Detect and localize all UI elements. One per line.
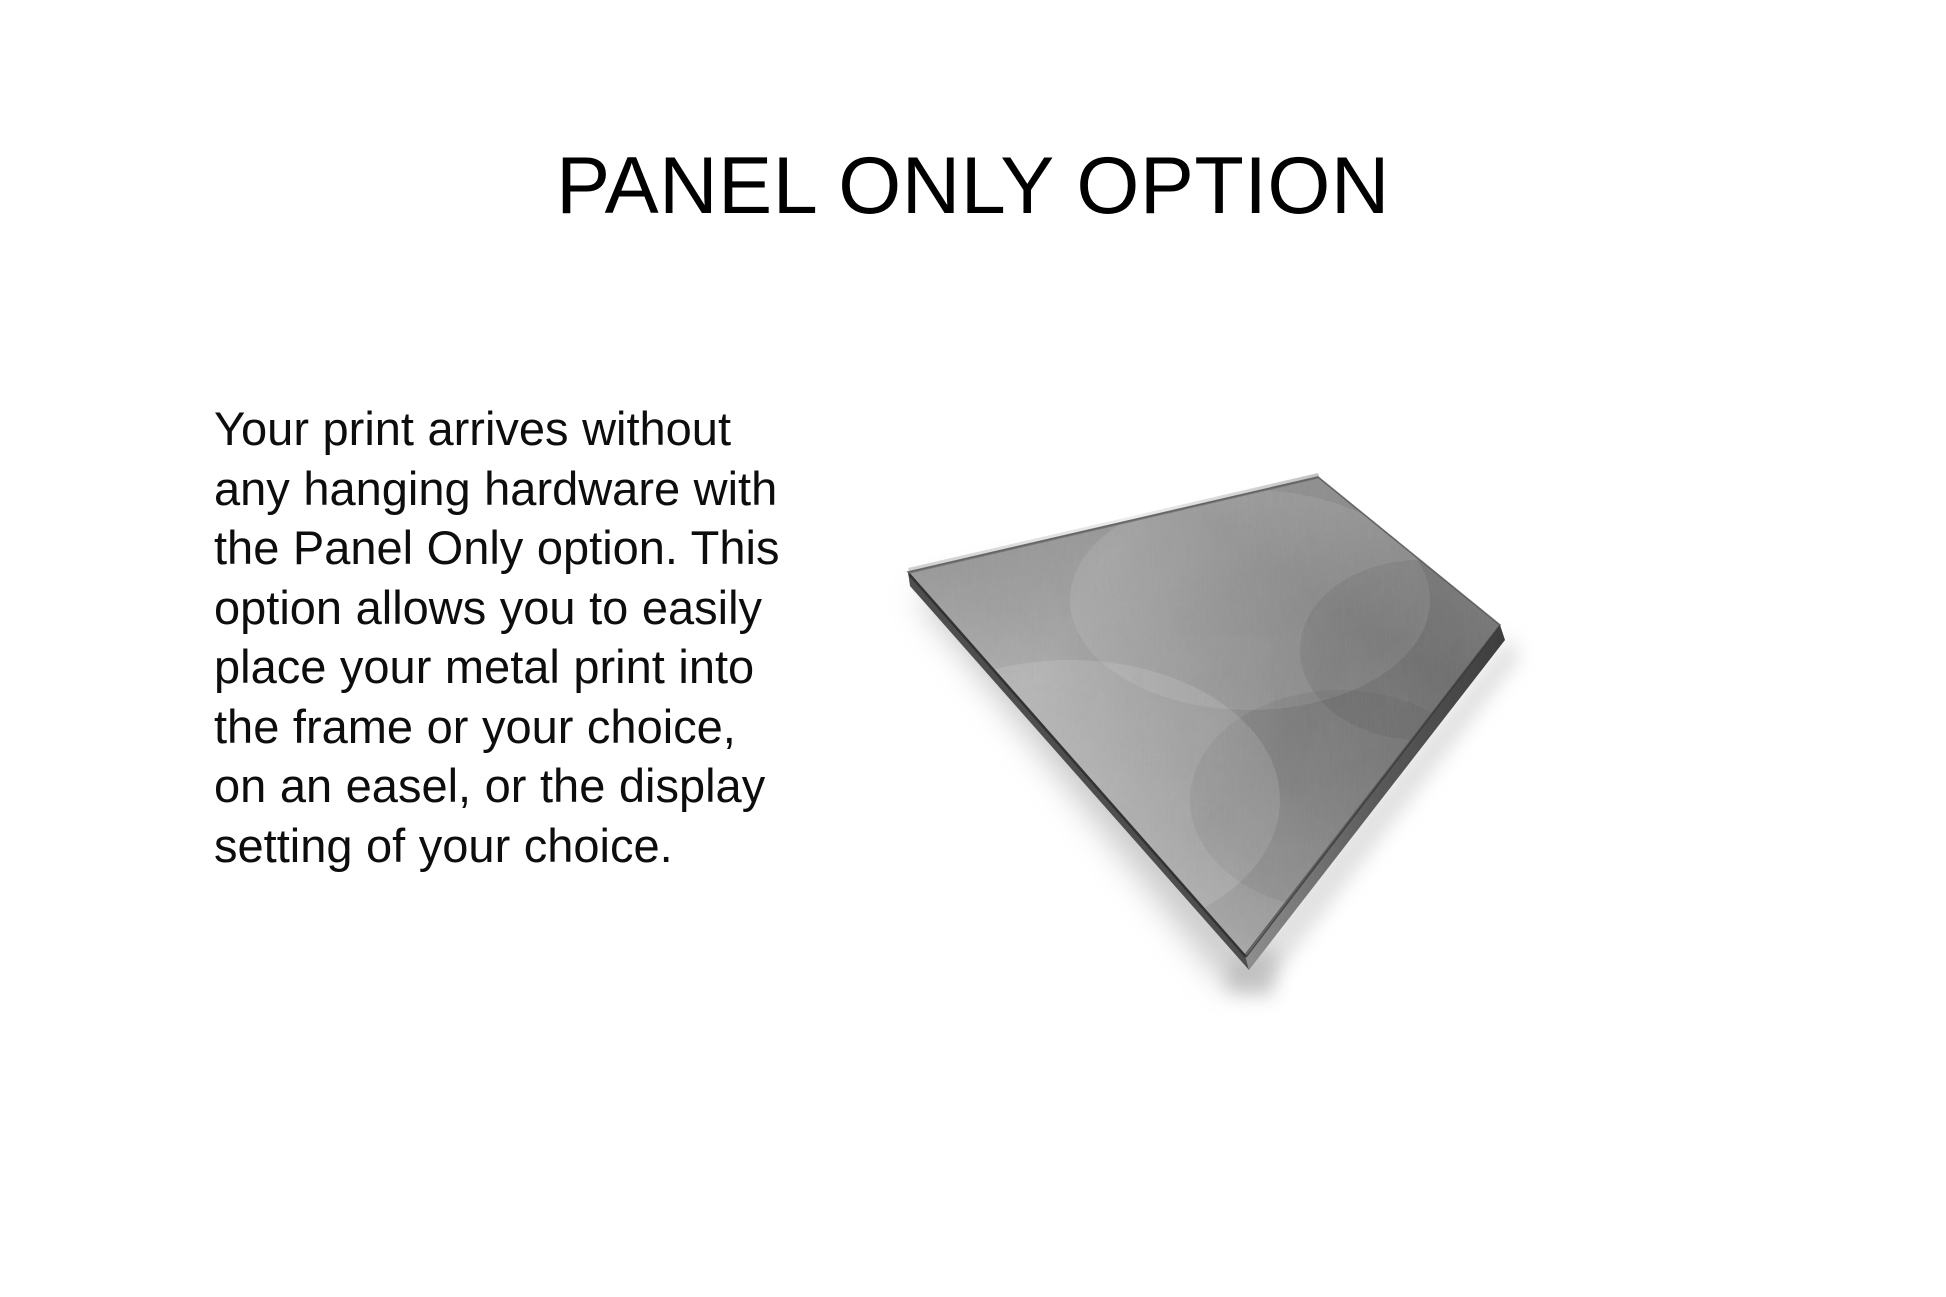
slide-canvas: PANEL ONLY OPTION Your print arrives wit… [0,0,1946,1297]
metal-panel-image [820,400,1620,1040]
body-paragraph: Your print arrives without any hanging h… [214,399,794,875]
metal-panel-svg [820,400,1620,1040]
page-title: PANEL ONLY OPTION [0,146,1946,227]
